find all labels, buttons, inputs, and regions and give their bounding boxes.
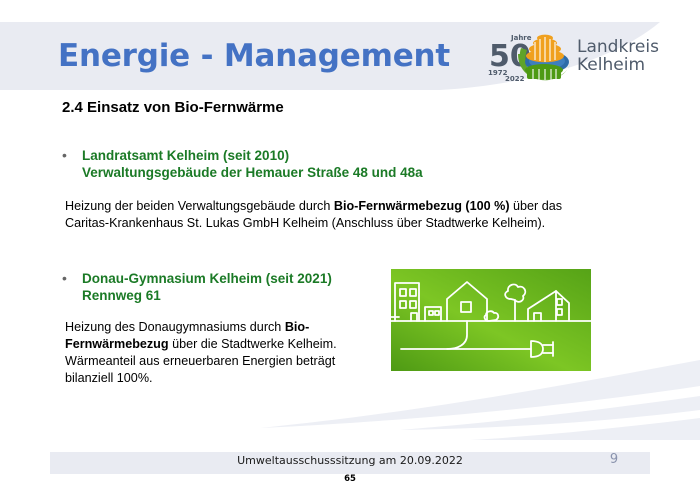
bullet-1-line-2: Verwaltungsgebäude der Hemauer Straße 48… <box>82 165 423 180</box>
paragraph-segment: Heizung der beiden Verwaltungsgebäude du… <box>65 199 334 213</box>
paragraph-1: Heizung der beiden Verwaltungsgebäude du… <box>65 198 565 232</box>
bullet-marker-icon: • <box>62 270 82 287</box>
bullet-2-line-2: Rennweg 61 <box>82 288 161 303</box>
paragraph-2: Heizung des Donaugymnasiums durch Bio-Fe… <box>65 319 365 387</box>
svg-text:Jahre: Jahre <box>510 34 532 42</box>
slide-number: 9 <box>600 452 628 467</box>
logo-name-line-1: Landkreis <box>577 38 659 56</box>
bullet-item-1: • Landratsamt Kelheim (seit 2010) Verwal… <box>62 147 423 181</box>
landkreis-kelheim-logo: 50 Jahre 1972 2022 <box>487 28 637 84</box>
section-subheading: 2.4 Einsatz von Bio-Fernwärme <box>62 99 284 116</box>
footer-text: Umweltausschusssitzung am 20.09.2022 <box>0 454 700 467</box>
energy-city-plug-illustration <box>391 269 591 371</box>
bullet-1-line-1: Landratsamt Kelheim (seit 2010) <box>82 148 289 163</box>
bullet-item-2: • Donau-Gymnasium Kelheim (seit 2021) Re… <box>62 270 332 304</box>
bullet-1-text: Landratsamt Kelheim (seit 2010) Verwaltu… <box>82 147 423 181</box>
bullet-2-text: Donau-Gymnasium Kelheim (seit 2021) Renn… <box>82 270 332 304</box>
anniversary-emblem-icon: 50 Jahre 1972 2022 <box>487 28 575 84</box>
bullet-2-line-1: Donau-Gymnasium Kelheim (seit 2021) <box>82 271 332 286</box>
bullet-marker-icon: • <box>62 147 82 164</box>
page-title: Energie - Management <box>58 38 450 74</box>
svg-text:2022: 2022 <box>505 75 525 83</box>
paragraph-segment: Heizung des Donaugymnasiums durch <box>65 320 285 334</box>
paragraph-segment: Bio-Fernwärmebezug (100 %) <box>334 199 510 213</box>
page-number: 65 <box>0 474 700 484</box>
logo-wordmark: Landkreis Kelheim <box>577 38 659 74</box>
slide-canvas: Energie - Management 50 Jahre 1972 2022 <box>0 0 700 495</box>
logo-name-line-2: Kelheim <box>577 56 659 74</box>
